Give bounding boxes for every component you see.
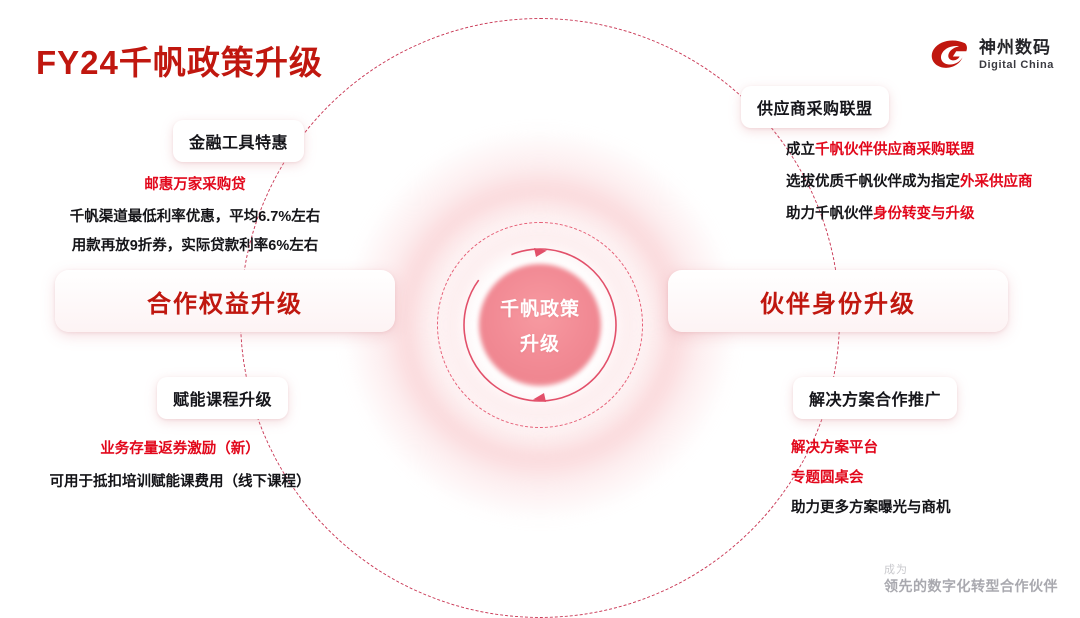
br-headline-2: 专题圆桌会 (791, 471, 951, 487)
footer-watermark: 成为 领先的数字化转型合作伙伴 (884, 564, 1058, 595)
tl-line-1: 千帆渠道最低利率优惠，平均6.7%左右 (40, 210, 350, 226)
tr-line-1-plain: 成立 (786, 142, 815, 158)
tr-line-2: 选拔优质千帆伙伴成为指定外采供应商 (786, 175, 1033, 191)
tr-line-3-highlight: 身份转变与升级 (873, 206, 975, 222)
pill-right-identity-upgrade[interactable]: 伙伴身份升级 (668, 270, 1008, 332)
chip-solution-promotion[interactable]: 解决方案合作推广 (793, 377, 957, 419)
tr-line-2-highlight: 外采供应商 (960, 174, 1033, 190)
brand-name-cn: 神州数码 (979, 39, 1054, 57)
chip-financial-tools[interactable]: 金融工具特惠 (173, 120, 304, 162)
watermark-main-text: 领先的数字化转型合作伙伴 (884, 578, 1058, 596)
digital-china-swirl-icon (928, 38, 970, 72)
center-label-line2: 升级 (520, 329, 560, 356)
bl-headline: 业务存量返券激励（新） (20, 442, 340, 458)
chip-training-course[interactable]: 赋能课程升级 (157, 377, 288, 419)
bl-line-1: 可用于抵扣培训赋能课费用（线下课程） (20, 475, 340, 491)
tr-line-3-plain: 助力千帆伙伴 (786, 206, 873, 222)
tr-line-3: 助力千帆伙伴身份转变与升级 (786, 207, 1033, 223)
block-top-right: 成立千帆伙伴供应商采购联盟 选拔优质千帆伙伴成为指定外采供应商 助力千帆伙伴身份… (786, 143, 1033, 239)
chip-supplier-alliance[interactable]: 供应商采购联盟 (741, 86, 889, 128)
block-top-left: 邮惠万家采购贷 千帆渠道最低利率优惠，平均6.7%左右 用款再放9折券，实际贷款… (40, 178, 350, 255)
block-bottom-right: 解决方案平台 专题圆桌会 助力更多方案曝光与商机 (791, 441, 951, 531)
brand-text: 神州数码 Digital China (979, 39, 1054, 71)
tr-line-1-highlight: 千帆伙伴供应商采购联盟 (815, 142, 975, 158)
center-label: 千帆政策 升级 (460, 280, 620, 370)
page-title: FY24千帆政策升级 (36, 36, 323, 84)
block-bottom-left: 业务存量返券激励（新） 可用于抵扣培训赋能课费用（线下课程） (20, 442, 340, 491)
tr-line-1: 成立千帆伙伴供应商采购联盟 (786, 143, 1033, 159)
center-label-line1: 千帆政策 (500, 294, 580, 321)
watermark-top-text: 成为 (884, 564, 1058, 578)
pill-left-benefit-upgrade[interactable]: 合作权益升级 (55, 270, 395, 332)
tr-line-2-plain: 选拔优质千帆伙伴成为指定 (786, 174, 960, 190)
tl-line-2: 用款再放9折券，实际贷款利率6%左右 (40, 239, 350, 255)
br-headline-1: 解决方案平台 (791, 441, 951, 457)
tl-headline: 邮惠万家采购贷 (40, 178, 350, 194)
brand-name-en: Digital China (979, 60, 1054, 72)
br-line-1: 助力更多方案曝光与商机 (791, 501, 951, 517)
brand-logo: 神州数码 Digital China (928, 38, 1054, 72)
slide-canvas: 千帆政策 升级 FY24千帆政策升级 神州数码 Digital China 合作… (0, 0, 1080, 605)
